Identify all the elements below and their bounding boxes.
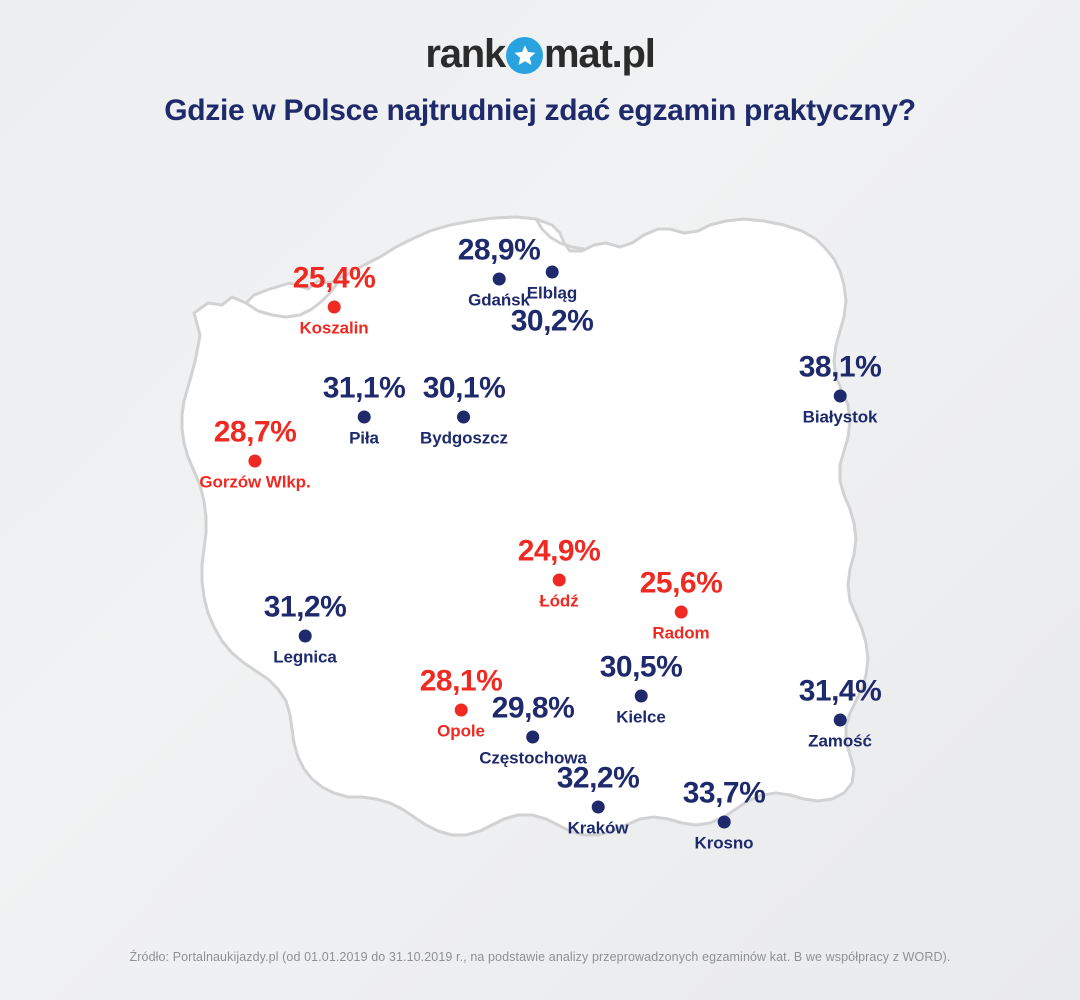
- city-dot-icon: [492, 273, 505, 286]
- city-dot-icon: [833, 714, 846, 727]
- city-name: Radom: [652, 625, 709, 642]
- city-name: Kraków: [568, 820, 629, 837]
- city-marker-stack: 31,2%Legnica: [264, 593, 347, 666]
- city-marker-stack: 28,7%Gorzów Wlkp.: [199, 418, 310, 491]
- city-marker-stack: 25,6%Radom: [640, 569, 723, 642]
- city-name: Bydgoszcz: [420, 430, 508, 447]
- city-value: 25,4%: [293, 264, 376, 294]
- city-marker-stack: 30,5%Kielce: [600, 653, 683, 726]
- city-dot-icon: [545, 266, 558, 279]
- city-marker-stack: 24,9%Łódź: [518, 537, 601, 610]
- city-name: Piła: [349, 430, 379, 447]
- city-name: Krosno: [695, 835, 754, 852]
- city-name: Gorzów Wlkp.: [199, 474, 310, 491]
- city-value: 29,8%: [492, 694, 575, 724]
- city-dot-icon: [327, 301, 340, 314]
- city-marker-stack: 31,1%Piła: [323, 374, 406, 447]
- city-dot-icon: [526, 731, 539, 744]
- city-dot-icon: [298, 630, 311, 643]
- city-marker-stack: 31,4%Zamość: [799, 677, 882, 750]
- city-value: 30,5%: [600, 653, 683, 683]
- city-dot-icon: [552, 574, 565, 587]
- city-dot-icon: [833, 390, 846, 403]
- city-dot-icon: [458, 411, 471, 424]
- city-value: 38,1%: [799, 353, 882, 383]
- city-marker-stack: 33,7%Krosno: [683, 779, 766, 852]
- city-dot-icon: [357, 411, 370, 424]
- city-dot-icon: [591, 801, 604, 814]
- city-name: Białystok: [803, 409, 878, 426]
- city-name: Opole: [437, 723, 485, 740]
- city-dot-icon: [717, 816, 730, 829]
- city-value: 30,2%: [511, 307, 594, 337]
- city-value: 33,7%: [683, 779, 766, 809]
- city-marker-stack: 32,2%Kraków: [557, 764, 640, 837]
- city-value: 24,9%: [518, 537, 601, 567]
- city-value: 31,1%: [323, 374, 406, 404]
- city-name: Zamość: [808, 733, 872, 750]
- city-marker-stack: 25,4%Koszalin: [293, 264, 376, 337]
- city-name: Koszalin: [299, 320, 368, 337]
- city-name: Elbląg: [527, 285, 577, 302]
- city-value: 31,4%: [799, 677, 882, 707]
- city-value: 28,1%: [420, 667, 503, 697]
- city-value: 28,7%: [214, 418, 297, 448]
- city-marker-stack: 30,2%Elbląg: [511, 266, 594, 337]
- city-name: Kielce: [616, 709, 666, 726]
- city-dot-icon: [634, 690, 647, 703]
- city-value: 25,6%: [640, 569, 723, 599]
- city-name: Legnica: [273, 649, 337, 666]
- city-value: 28,9%: [458, 236, 541, 266]
- city-marker-stack: 38,1%Białystok: [799, 353, 882, 426]
- source-note: Źródło: Portalnaukijazdy.pl (od 01.01.20…: [0, 950, 1080, 964]
- city-name: Łódź: [539, 593, 578, 610]
- city-value: 32,2%: [557, 764, 640, 794]
- city-value: 31,2%: [264, 593, 347, 623]
- city-marker-stack: 29,8%Częstochowa: [479, 694, 587, 767]
- city-value: 30,1%: [423, 374, 506, 404]
- city-marker-stack: 30,1%Bydgoszcz: [420, 374, 508, 447]
- city-dot-icon: [249, 455, 262, 468]
- poland-map: 25,4%Koszalin28,9%Gdańsk30,2%Elbląg38,1%…: [0, 0, 1080, 1000]
- city-dot-icon: [674, 606, 687, 619]
- city-dot-icon: [454, 704, 467, 717]
